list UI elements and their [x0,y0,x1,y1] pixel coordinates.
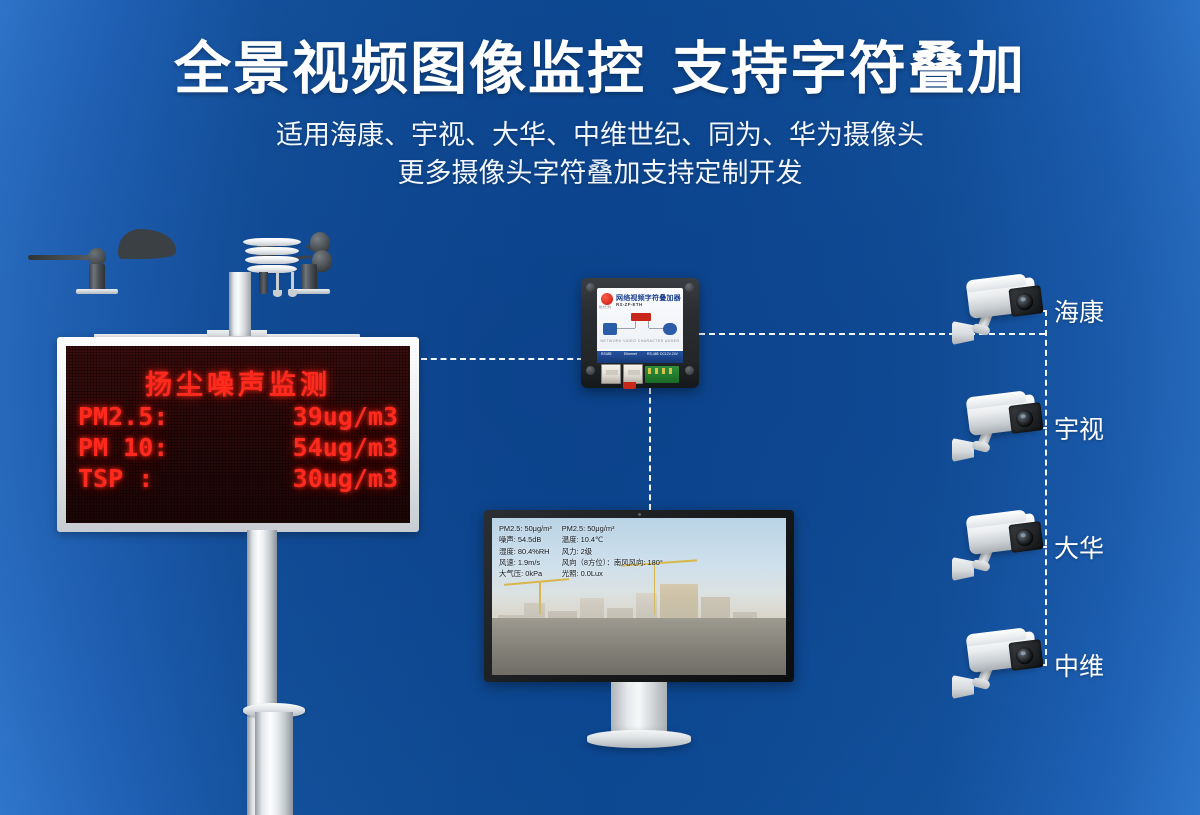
camera-lens-housing [1008,285,1043,317]
osd-pressure: 大气压: 0kPa [499,568,552,579]
camera-lens-icon [1015,292,1034,311]
device-screw [586,366,595,375]
terminal-block[interactable] [645,366,679,383]
led-value-pm25: 39ug/m3 [293,401,398,432]
osd-left-column: PM2.5: 50μg/m³ 噪声: 54.5dB 湿度: 80.4%RH 风速… [499,523,552,579]
camera-lens-icon [1015,646,1034,665]
camera-label-zhongwei: 中维 [1054,647,1104,683]
led-label-pm25: PM2.5: [78,401,168,432]
shield-tip-1 [273,290,282,297]
led-label-pm10: PM 10: [78,432,168,463]
camera-lens-housing [1008,639,1043,671]
port-label-rs485-term: RS-485 [647,352,659,356]
camera-wall-mount [952,675,974,699]
wire-segment [648,321,649,328]
device-power-connector [623,382,636,389]
osd-right-column: PM2.5: 50μg/m³ 温度: 10.4℃ 风力: 2级 风向（8方位）：… [562,523,663,579]
osd-illuminance: 光照: 0.0Lux [562,568,663,579]
display-monitor: PM2.5: 50μg/m³ 噪声: 54.5dB 湿度: 80.4%RH 风速… [484,502,794,764]
connector-camera-trunk [1045,310,1047,665]
support-pole-lower [255,712,293,815]
osd-pm25-right: PM2.5: 50μg/m³ [562,523,663,534]
shield-tip-2 [288,290,297,297]
connector-led-to-device [421,358,583,360]
osd-humidity: 湿度: 80.4%RH [499,546,552,557]
port-label-power: DC12V-24V [660,352,678,356]
device-english-name: NETWORK VIDEO CHARACTER ADDER [597,339,683,343]
wire-segment [649,328,663,329]
webcam-icon [638,513,641,516]
wire-segment [635,321,636,328]
led-value-tsp: 30ug/m3 [293,463,398,494]
shield-rod-1 [276,272,279,292]
terminal-pin [655,368,658,374]
led-row-tsp: TSP : 30ug/m3 [74,463,402,494]
camera-icon [603,323,617,335]
led-label-tsp: TSP : [78,463,153,494]
camera-lens-housing [1008,521,1043,553]
monitor-stand-base [587,730,691,748]
monitor-bezel: PM2.5: 50μg/m³ 噪声: 54.5dB 湿度: 80.4%RH 风速… [484,510,794,682]
device-wiring-diagram [603,313,677,337]
osd-wind-force: 风力: 2级 [562,546,663,557]
device-brand-name: 建大仁科 [599,305,611,309]
led-row-pm25: PM2.5: 39ug/m3 [74,401,402,432]
monitor-stand-neck [611,682,667,734]
mast-upper-pole [229,272,251,336]
led-display-board: 扬尘噪声监测 PM2.5: 39ug/m3 PM 10: 54ug/m3 TSP… [57,337,419,532]
camera-wall-mount [952,557,974,581]
device-screw [685,366,694,375]
shield-sensor-probe [259,272,268,294]
wind-vane-foot [76,289,118,294]
ip-camera-dahua[interactable]: 大华 [950,511,1046,589]
camera-label-dahua: 大华 [1054,529,1104,565]
wind-vane-base [89,264,105,290]
terminal-pin [648,368,651,374]
terminal-pin [662,368,665,374]
camera-wall-mount [952,438,974,462]
device-connector-row[interactable] [601,364,681,386]
header: 全景视频图像监控支持字符叠加 适用海康、宇视、大华、中维世纪、同为、华为摄像头 … [0,38,1200,192]
shield-plate [245,247,299,255]
osd-pm25-left: PM2.5: 50μg/m³ [499,523,552,534]
rj45-port-2[interactable] [623,364,643,384]
wind-vane-nose [28,255,92,260]
wire-segment [617,328,635,329]
subtitle-line-2: 更多摄像头字符叠加支持定制开发 [0,156,1200,192]
osd-noise: 噪声: 54.5dB [499,534,552,545]
device-model-number: RS-ZF-ETH [616,302,642,307]
wind-vane-tail [117,229,179,259]
title-part-1: 全景视频图像监控 [174,37,646,101]
led-title: 扬尘噪声监测 [74,371,402,401]
camera-wall-mount [952,321,974,345]
device-faceplate: 建大仁科 网络视频字符叠加器 RS-ZF-ETH NETWORK VIDEO C… [597,288,683,350]
shield-plate [243,238,301,246]
device-screw [586,283,595,292]
camera-label-haikang: 海康 [1054,293,1104,329]
brand-logo-icon [601,293,613,305]
poster-canvas: 全景视频图像监控支持字符叠加 适用海康、宇视、大华、中维世纪、同为、华为摄像头 … [0,0,1200,815]
page-title: 全景视频图像监控支持字符叠加 [0,38,1200,102]
ip-camera-zhongwei[interactable]: 中维 [950,629,1046,707]
terminal-pin [669,368,672,374]
shield-plate [245,256,299,264]
camera-lens-housing [1008,402,1043,434]
osd-overlay: PM2.5: 50μg/m³ 噪声: 54.5dB 湿度: 80.4%RH 风速… [499,523,663,579]
osd-temperature: 温度: 10.4℃ [562,534,663,545]
device-unit-icon [631,313,651,321]
led-screen: 扬尘噪声监测 PM2.5: 39ug/m3 PM 10: 54ug/m3 TSP… [66,346,410,523]
anemometer-base [301,264,317,290]
led-value-pm10: 54ug/m3 [293,432,398,463]
osd-wind-speed: 风速: 1.9m/s [499,557,552,568]
led-row-pm10: PM 10: 54ug/m3 [74,432,402,463]
port-label-rs485: RS485 [601,352,611,356]
osd-wind-direction: 风向（8方位）：南风风向: 180° [562,557,663,568]
subtitle-line-1: 适用海康、宇视、大华、中维世纪、同为、华为摄像头 [0,118,1200,154]
video-character-overlay-device[interactable]: 建大仁科 网络视频字符叠加器 RS-ZF-ETH NETWORK VIDEO C… [581,278,699,388]
ip-camera-yushi[interactable]: 宇视 [950,392,1046,470]
port-label-ethernet: Ethernet [624,352,637,356]
video-foreground-construction [492,618,786,675]
cloud-icon [663,323,677,335]
ip-camera-haikang[interactable]: 海康 [950,275,1046,353]
camera-lens-icon [1015,528,1034,547]
title-part-2: 支持字符叠加 [672,37,1026,101]
monitor-screen[interactable]: PM2.5: 50μg/m³ 噪声: 54.5dB 湿度: 80.4%RH 风速… [492,518,786,675]
rj45-port-1[interactable] [601,364,621,384]
connector-device-to-monitor [649,388,651,510]
device-port-label-strip: RS485 Ethernet RS-485 DC12V-24V [597,349,683,363]
device-screw [685,283,694,292]
camera-lens-icon [1015,409,1034,428]
camera-label-yushi: 宇视 [1054,410,1104,446]
shield-plate [247,265,297,273]
shield-rod-2 [291,272,294,292]
